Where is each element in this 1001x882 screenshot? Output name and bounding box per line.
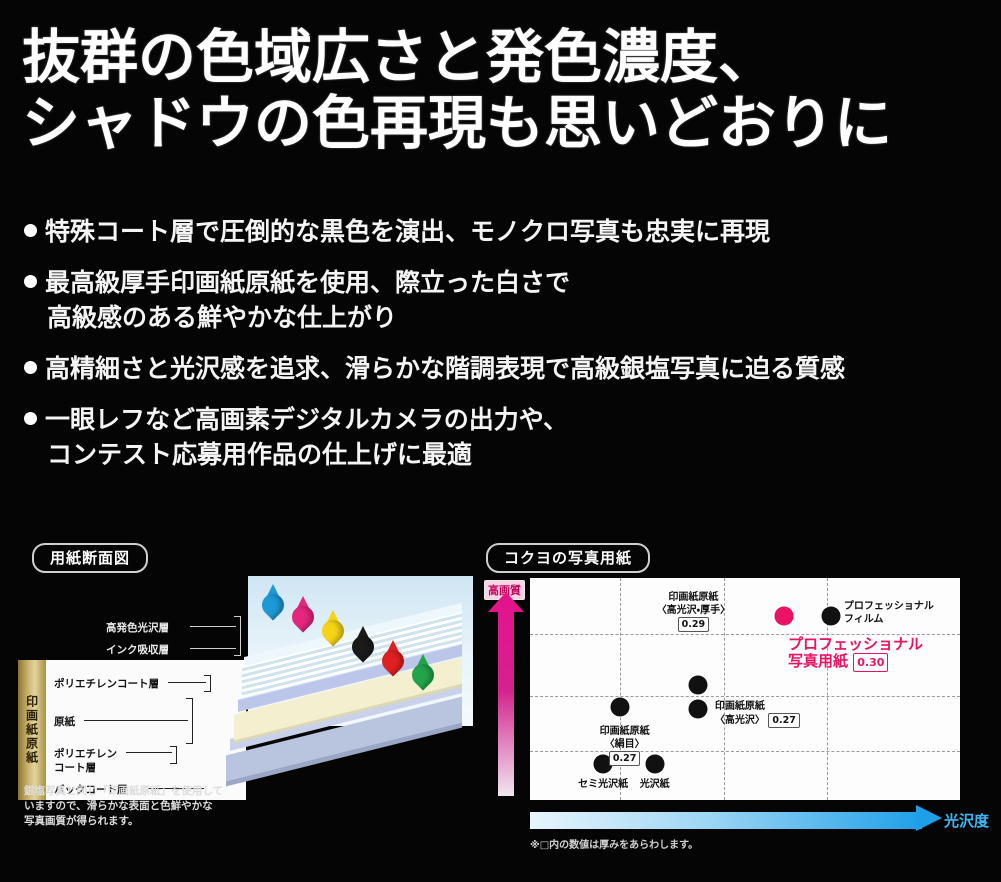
bullet-text-line-1: 最高級厚手印画紙原紙を使用、際立った白さで [45, 268, 570, 297]
cross-section-caption: 銀塩写真と同じ「印画紙原紙」を使用して いますので、滑らかな表面と色鮮やかな 写… [24, 784, 254, 829]
bullet-text: 最高級厚手印画紙原紙を使用、際立った白さで 高級感のある鮮やかな仕上がり [45, 265, 570, 335]
data-label-professional-photo-paper: プロフェッショナル 写真用紙 0.30 [788, 636, 923, 672]
headline: 抜群の色域広さと発色濃度、 シャドウの色再現も思いどおりに [22, 24, 982, 156]
ink-drop-magenta [290, 596, 316, 630]
chart-title-wrap: コクヨの写真用紙 [486, 543, 650, 573]
data-label-inga-koukoutaku-atsude: 印画紙原紙 〈高光沢・厚手〉 0.29 [629, 591, 758, 632]
headline-line-2: シャドウの色再現も思いどおりに [22, 90, 982, 156]
data-point-inga-koukoutaku-atsude [688, 675, 707, 694]
data-label-line-2: 〈高光沢・厚手〉 [629, 604, 758, 617]
leader-line [84, 720, 188, 721]
thickness-value-badge: 0.27 [768, 713, 799, 728]
caption-line-2: いますので、滑らかな表面と色鮮やかな [24, 799, 254, 814]
data-point-inga-kinume [611, 697, 630, 716]
data-label-line-1: プロフェッショナル [788, 636, 923, 653]
layer-label-pe-top: ポリエチレンコート層 [54, 676, 159, 691]
bullet-text-line-2: コンテスト応募用作品の仕上げに最適 [45, 437, 568, 472]
thickness-value-badge: 0.27 [609, 751, 640, 766]
data-label-line-2: 〈絹目〉 [573, 738, 676, 751]
ink-drop-cyan [260, 584, 286, 618]
ad-page: 抜群の色域広さと発色濃度、 シャドウの色再現も思いどおりに 特殊コート層で圧倒的… [0, 0, 1001, 882]
data-point-professional-photo-paper [774, 606, 793, 625]
layer-label-base: 原紙 [54, 714, 75, 729]
list-item: 最高級厚手印画紙原紙を使用、際立った白さで 高級感のある鮮やかな仕上がり [24, 265, 984, 335]
bullet-text: 一眼レフなど高画素デジタルカメラの出力や、 コンテスト応募用作品の仕上げに最適 [45, 402, 568, 472]
photo-paper-chart-panel: コクヨの写真用紙 高画質 印画紙原紙 [478, 540, 983, 860]
data-label-line-2: フィルム [844, 613, 934, 626]
headline-line-1: 抜群の色域広さと発色濃度、 [22, 24, 982, 90]
data-label-line-1: 印画紙原紙 [715, 700, 800, 713]
chart-title: コクヨの写真用紙 [486, 543, 650, 573]
bracket [170, 746, 177, 764]
cross-section-title-wrap: 用紙断面図 [32, 543, 148, 573]
chart-footnote: ※□内の数値は厚みをあらわします。 [530, 836, 698, 851]
bullet-text-line-2: 高級感のある鮮やかな仕上がり [45, 300, 570, 335]
ink-drop-yellow [320, 610, 346, 644]
ink-drop-green [410, 654, 436, 688]
cross-section-diagram: 印画紙原紙 高発色光沢層 インク吸収層 ポリエチレンコート層 原紙 ポリエチレン… [18, 576, 473, 816]
paper-stack-illustration [214, 576, 473, 816]
layer-label-pe-bottom-line1: ポリエチレン [54, 746, 117, 761]
bullet-text-line-1: 一眼レフなど高画素デジタルカメラの出力や、 [45, 405, 568, 434]
list-item: 高精細さと光沢感を追求、滑らかな階調表現で高級銀塩写真に迫る質感 [24, 351, 984, 386]
data-label-gloss: 光沢紙 [625, 778, 685, 791]
data-label-inga-kinume: 印画紙原紙 〈絹目〉 0.27 [573, 725, 676, 766]
gridline-vertical [620, 578, 621, 800]
bracket [186, 698, 193, 744]
bullet-text-line-1: 特殊コート層で圧倒的な黒色を演出、モノクロ写真も忠実に再現 [45, 217, 770, 246]
cross-section-panel: 用紙断面図 印画紙原紙 高発色光沢層 インク吸収層 ポリエチレンコート層 原紙 … [18, 540, 473, 860]
cross-section-title: 用紙断面図 [32, 543, 148, 573]
layer-label-ink: インク吸収層 [106, 642, 169, 657]
bullet-dot-icon [24, 361, 37, 374]
caption-line-3: 写真画質が得られます。 [24, 814, 254, 829]
leader-line [126, 752, 172, 753]
bracket [204, 675, 211, 692]
data-point-inga-koukoutaku [688, 699, 707, 718]
group-label-bar: 印画紙原紙 [18, 660, 46, 800]
list-item: 一眼レフなど高画素デジタルカメラの出力や、 コンテスト応募用作品の仕上げに最適 [24, 402, 984, 472]
data-label-professional-film: プロフェッショナル フィルム [844, 600, 934, 626]
x-axis-arrow-head-icon [916, 805, 942, 831]
data-label-line-2: 写真用紙 [788, 652, 848, 670]
bullet-dot-icon [24, 412, 37, 425]
x-axis: 光沢度 [530, 808, 960, 834]
bullet-dot-icon [24, 224, 37, 237]
caption-line-1: 銀塩写真と同じ「印画紙原紙」を使用して [24, 784, 254, 799]
x-axis-arrow-shaft-icon [530, 812, 922, 829]
bullet-text: 特殊コート層で圧倒的な黒色を演出、モノクロ写真も忠実に再現 [45, 214, 770, 249]
data-label-line-1: 印画紙原紙 [629, 591, 758, 604]
data-label-inga-koukoutaku: 印画紙原紙 〈高光沢〉 0.27 [715, 700, 800, 728]
bullet-dot-icon [24, 275, 37, 288]
y-axis-arrow-shaft-icon [498, 604, 514, 796]
bullet-text-line-1: 高精細さと光沢感を追求、滑らかな階調表現で高級銀塩写真に迫る質感 [45, 354, 845, 383]
layer-label-gloss: 高発色光沢層 [106, 620, 169, 635]
x-axis-label: 光沢度 [944, 810, 989, 831]
thickness-value-badge: 0.30 [853, 653, 888, 672]
leader-line [168, 682, 206, 683]
y-axis: 高画質 [484, 578, 528, 800]
group-label-text: 印画紙原紙 [24, 695, 41, 765]
layer-label-pe-bottom-line2: コート層 [54, 760, 96, 775]
thickness-value-badge: 0.29 [678, 617, 709, 632]
ink-drop-black [350, 626, 376, 660]
data-label-line-1: 印画紙原紙 [573, 725, 676, 738]
data-label-line-1: プロフェッショナル [844, 600, 934, 613]
data-point-professional-film [822, 606, 841, 625]
ink-drop-red [380, 640, 406, 674]
data-label-line-2: 〈高光沢〉 [715, 715, 765, 726]
chart-plot-area: 印画紙原紙 〈高光沢・厚手〉 0.29 プロフェッショナル フィルム プロフェッ… [530, 578, 960, 800]
data-label-line-1: 光沢紙 [625, 778, 685, 791]
bullet-text: 高精細さと光沢感を追求、滑らかな階調表現で高級銀塩写真に迫る質感 [45, 351, 845, 386]
gridline-horizontal [530, 696, 960, 697]
feature-bullet-list: 特殊コート層で圧倒的な黒色を演出、モノクロ写真も忠実に再現 最高級厚手印画紙原紙… [24, 214, 984, 488]
list-item: 特殊コート層で圧倒的な黒色を演出、モノクロ写真も忠実に再現 [24, 214, 984, 249]
